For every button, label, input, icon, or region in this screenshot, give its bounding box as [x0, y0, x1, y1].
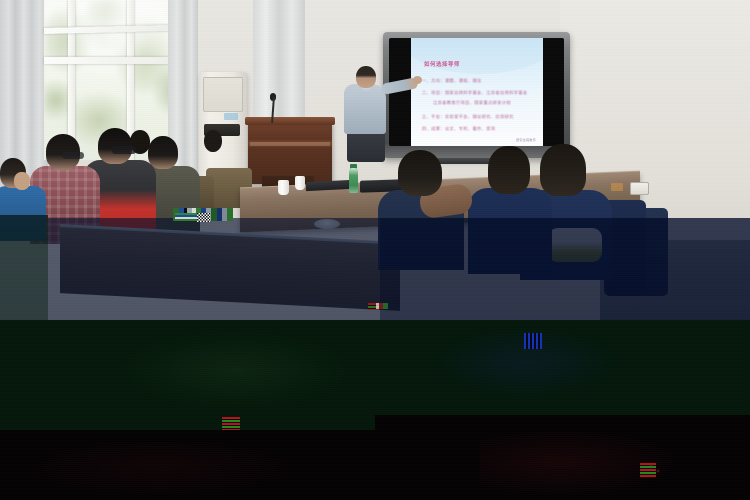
eyeglasses-icon [62, 152, 84, 159]
artifact-checkerboard-block [197, 213, 210, 222]
eyeglasses-icon [112, 146, 136, 154]
presenter-head [356, 66, 376, 88]
attendee-back-row-head [204, 130, 222, 152]
screen-panel: 如何选择导师 一、方向：课题、课程、理念 二、项目：国家自然科学基金、江苏省自然… [389, 38, 564, 146]
attendee-blue-jacket-body [0, 186, 46, 241]
glass-ashtray [314, 219, 340, 229]
screenshot-canvas: 如何选择导师 一、方向：课题、课程、理念 二、项目：国家自然科学基金、江苏省自然… [0, 0, 750, 500]
slide-decorative-arc [411, 38, 543, 74]
podium-trim [250, 142, 330, 146]
presenter-hand [413, 76, 422, 84]
artifact-rgb-noise-block [376, 303, 388, 309]
attendee-foreground-long-hair-body [468, 188, 552, 274]
presenter-legs [347, 130, 385, 162]
artifact-rgb-noise-block [175, 213, 197, 221]
slide-footer: 研究生院教育 [516, 138, 536, 142]
artifact-blue-stripe-block [524, 333, 542, 349]
paper-cup [278, 180, 289, 195]
paper-cup [295, 176, 305, 190]
attendee-scarf [548, 228, 602, 262]
conference-room-photo: 如何选择导师 一、方向：课题、课程、理念 二、项目：国家自然科学基金、江苏省自然… [0, 0, 750, 500]
slide-bullet-line: 二、项目：国家自然科学基金、江苏省自然科学基金 [422, 90, 528, 96]
attendee-foreground-scarf-head [540, 144, 586, 196]
water-bottle [349, 168, 358, 193]
air-conditioner-badge [224, 113, 238, 120]
air-conditioner-grille [203, 77, 243, 112]
podium-top [245, 117, 335, 125]
artifact-red-dot-noise [648, 462, 662, 478]
slide-bullet-line: 江苏省教育厅项目、国家重点研发计划 [433, 100, 511, 106]
slide-bullet-line: 一、方向：课题、课程、理念 [422, 78, 482, 84]
wooden-podium [248, 122, 332, 184]
floor-standing-air-conditioner [199, 72, 247, 180]
slide-title: 如何选择导师 [424, 60, 460, 68]
attendee-foreground-dark-head [398, 150, 442, 196]
presentation-slide: 如何选择导师 一、方向：课题、课程、理念 二、项目：国家自然科学基金、江苏省自然… [411, 38, 543, 146]
wall-socket-secondary [611, 183, 623, 191]
attendee-blue-jacket-face [14, 172, 30, 190]
artifact-red-green-stripe-block [222, 417, 240, 430]
attendee-foreground-long-hair-head [488, 146, 530, 194]
slide-bullet-line: 四、成果：论文、专利、著作、奖项 [422, 126, 495, 132]
slide-bullet-line: 三、平台：实验室平台、理论研究、应用研究 [422, 114, 514, 120]
wall-power-socket [630, 182, 649, 195]
attendee-olive-jacket-head [148, 136, 178, 169]
wall-mounted-presentation-screen: 如何选择导师 一、方向：课题、课程、理念 二、项目：国家自然科学基金、江苏省自然… [383, 32, 570, 158]
